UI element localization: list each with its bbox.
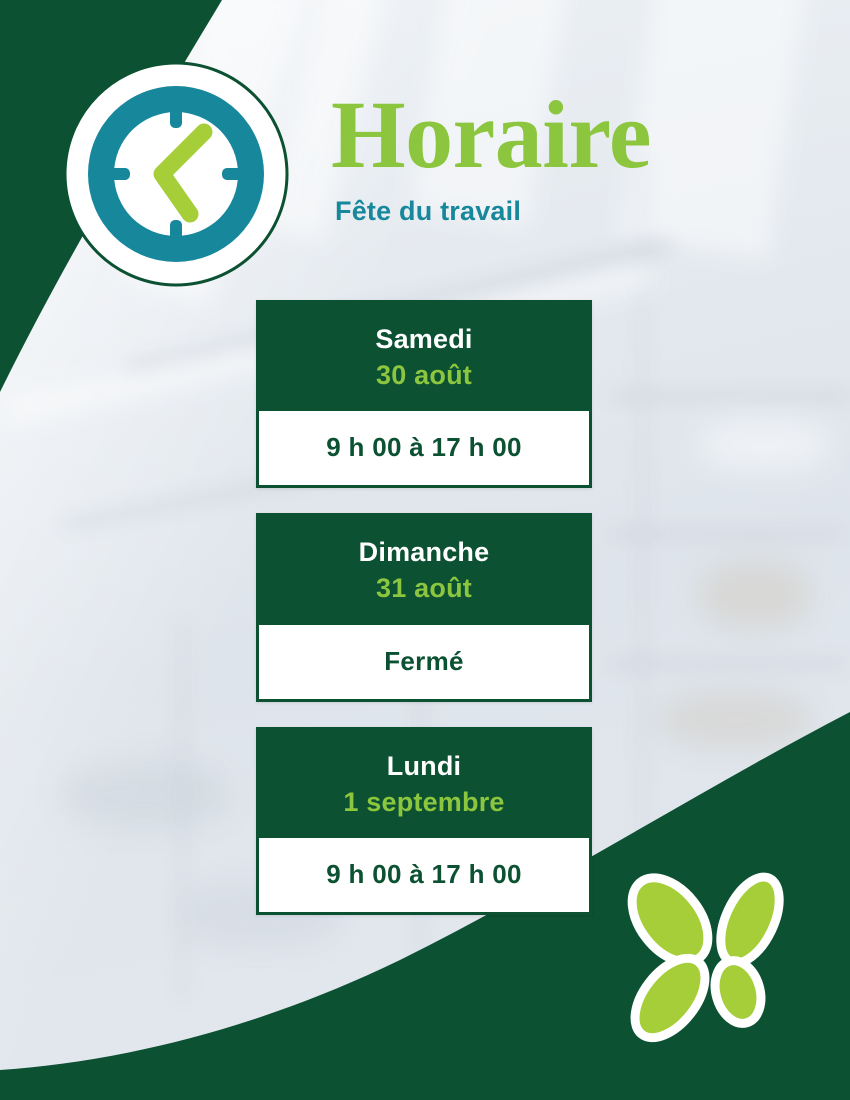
- schedule-card-header: Lundi 1 septembre: [256, 727, 592, 838]
- schedule-hours-label: 9 h 00 à 17 h 00: [269, 432, 579, 463]
- schedule-date-label: 1 septembre: [266, 786, 582, 818]
- schedule-card: Dimanche 31 août Fermé: [256, 513, 592, 701]
- schedule-card: Samedi 30 août 9 h 00 à 17 h 00: [256, 300, 592, 488]
- schedule-hours-label: 9 h 00 à 17 h 00: [269, 859, 579, 890]
- schedule-card-header: Dimanche 31 août: [256, 513, 592, 624]
- schedule-poster: Horaire Fête du travail Samedi 30 août 9…: [0, 0, 850, 1100]
- schedule-date-label: 30 août: [266, 359, 582, 391]
- logo-petal-bottom-left: [621, 946, 719, 1051]
- schedule-date-label: 31 août: [266, 572, 582, 604]
- schedule-card: Lundi 1 septembre 9 h 00 à 17 h 00: [256, 727, 592, 915]
- butterfly-leaf-logo: [612, 862, 812, 1054]
- schedule-hours-label: Fermé: [269, 646, 579, 677]
- page-title: Horaire: [331, 88, 771, 182]
- schedule-day-label: Samedi: [266, 324, 582, 355]
- schedule-card-body: Fermé: [256, 625, 592, 702]
- poster-header: Horaire Fête du travail: [331, 88, 771, 227]
- logo-petal-bottom-right: [708, 955, 768, 1029]
- logo-petal-top-right: [709, 868, 791, 972]
- schedule-day-label: Dimanche: [266, 537, 582, 568]
- schedule-day-label: Lundi: [266, 751, 582, 782]
- schedule-list: Samedi 30 août 9 h 00 à 17 h 00 Dimanche…: [256, 300, 592, 915]
- clock-icon: [62, 60, 290, 288]
- schedule-card-body: 9 h 00 à 17 h 00: [256, 411, 592, 488]
- page-subtitle: Fête du travail: [335, 196, 771, 227]
- schedule-card-header: Samedi 30 août: [256, 300, 592, 411]
- schedule-card-body: 9 h 00 à 17 h 00: [256, 838, 592, 915]
